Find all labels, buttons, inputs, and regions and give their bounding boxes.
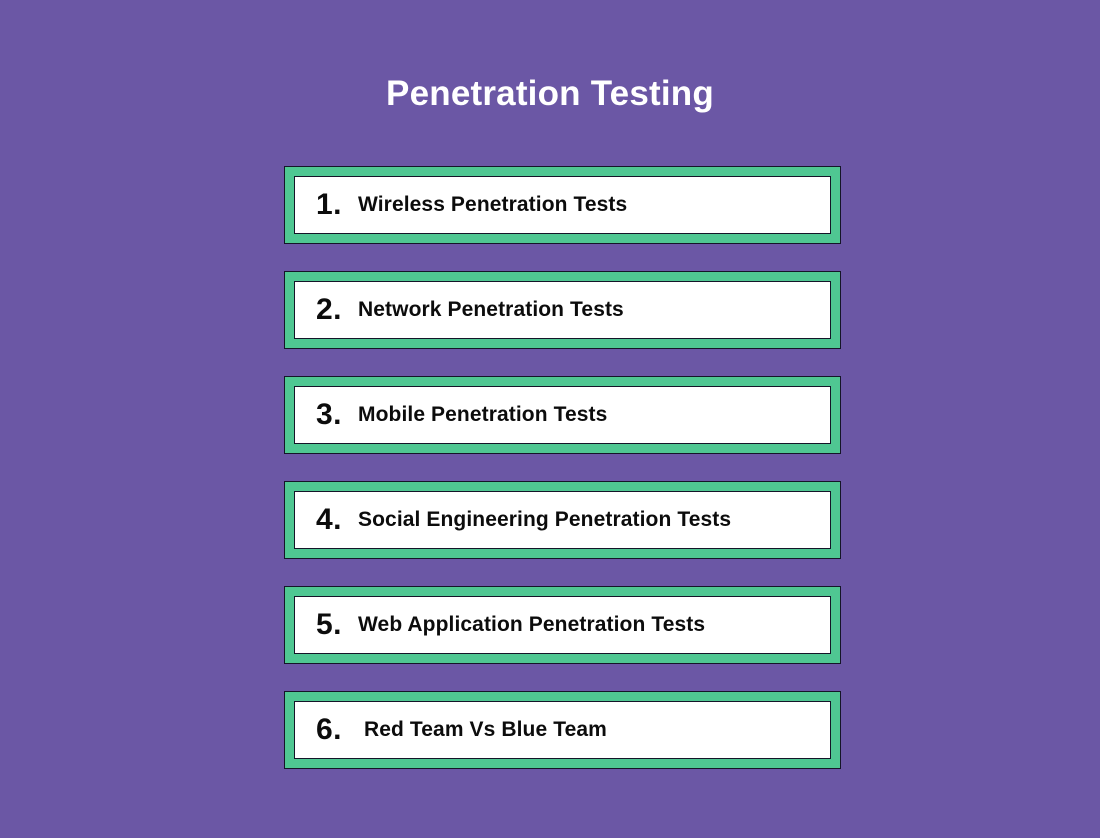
penetration-testing-list: 1. Wireless Penetration Tests 2. Network…: [284, 166, 841, 769]
list-item-number: 2.: [316, 294, 358, 326]
list-item[interactable]: 5. Web Application Penetration Tests: [284, 586, 841, 664]
list-item-number: 5.: [316, 609, 358, 641]
list-item-label: Red Team Vs Blue Team: [358, 717, 830, 743]
list-item-number: 6.: [316, 714, 358, 746]
list-item-label: Network Penetration Tests: [358, 297, 830, 323]
list-item-label: Wireless Penetration Tests: [358, 192, 830, 218]
list-item-number: 1.: [316, 189, 358, 221]
list-item-inner: 1. Wireless Penetration Tests: [294, 176, 831, 234]
page-title: Penetration Testing: [0, 72, 1100, 116]
list-item[interactable]: 3. Mobile Penetration Tests: [284, 376, 841, 454]
list-item-number: 4.: [316, 504, 358, 536]
list-item-label: Web Application Penetration Tests: [358, 612, 830, 638]
list-item-number: 3.: [316, 399, 358, 431]
list-item[interactable]: 4. Social Engineering Penetration Tests: [284, 481, 841, 559]
list-item-label: Social Engineering Penetration Tests: [358, 507, 830, 533]
list-item-inner: 2. Network Penetration Tests: [294, 281, 831, 339]
list-item-inner: 4. Social Engineering Penetration Tests: [294, 491, 831, 549]
list-item[interactable]: 2. Network Penetration Tests: [284, 271, 841, 349]
list-item[interactable]: 6. Red Team Vs Blue Team: [284, 691, 841, 769]
slide-canvas: Penetration Testing 1. Wireless Penetrat…: [0, 0, 1100, 838]
list-item-inner: 5. Web Application Penetration Tests: [294, 596, 831, 654]
list-item-inner: 6. Red Team Vs Blue Team: [294, 701, 831, 759]
list-item-inner: 3. Mobile Penetration Tests: [294, 386, 831, 444]
list-item[interactable]: 1. Wireless Penetration Tests: [284, 166, 841, 244]
list-item-label: Mobile Penetration Tests: [358, 402, 830, 428]
